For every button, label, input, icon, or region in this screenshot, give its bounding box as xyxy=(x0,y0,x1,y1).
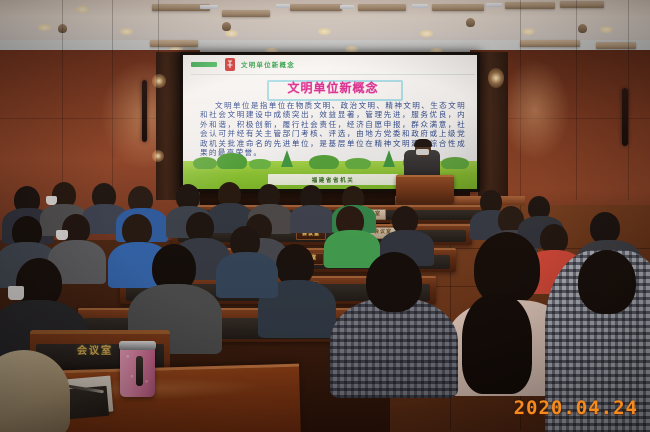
ceiling-vent xyxy=(520,40,580,47)
slide-header-rule xyxy=(191,74,475,75)
ceiling-spotlight xyxy=(466,18,475,27)
slide-bush xyxy=(309,155,339,169)
ceiling-vent xyxy=(358,4,406,11)
podium xyxy=(396,175,454,203)
cup-handle xyxy=(136,356,143,386)
ceiling-downlight xyxy=(76,6,89,13)
slide-footer-band-text: 福建省省机关 xyxy=(268,176,398,184)
ceiling-downlight xyxy=(522,28,535,35)
slide-header-text: 文明单位新概念 xyxy=(241,59,295,69)
audience-head xyxy=(462,294,532,394)
ceiling-downlight xyxy=(225,30,238,37)
ceiling-vent xyxy=(596,42,636,49)
slide-bush xyxy=(217,153,247,169)
slide-title: 文明单位新概念 xyxy=(267,81,399,96)
ceiling-light-strip xyxy=(276,4,290,8)
ceiling-downlight xyxy=(600,26,613,33)
slide-bush xyxy=(345,158,371,169)
ceiling-light-strip xyxy=(340,5,354,9)
ceiling-downlight xyxy=(318,28,331,35)
ceiling-vent xyxy=(432,4,484,11)
audience-shoulder xyxy=(216,252,278,298)
camera-datestamp: 2020.04.24 xyxy=(514,397,638,419)
header-green-bar xyxy=(191,62,217,67)
wall-speaker xyxy=(142,80,147,142)
audience-face-mask xyxy=(8,286,24,300)
wall-panel-seam xyxy=(62,0,63,200)
audience-head xyxy=(366,252,422,312)
slide-tree xyxy=(383,150,395,167)
ceiling-downlight xyxy=(420,30,433,37)
door-lamp xyxy=(488,68,504,88)
ceiling-light-strip xyxy=(486,3,502,7)
slide-bush xyxy=(249,159,271,169)
wall-speaker xyxy=(622,88,628,146)
conference-room-photo: 文明单位新概念 文明单位新概念 文明单位是指单位在物质文明、政治文明、精神文明、… xyxy=(0,0,650,432)
presenter-face-mask xyxy=(416,149,429,155)
audience-face-mask xyxy=(56,230,68,240)
cup-lid xyxy=(119,341,156,350)
audience-shoulder xyxy=(330,298,458,398)
ceiling-vent xyxy=(222,10,270,17)
slide-tree xyxy=(281,150,293,167)
red-seal-logo-icon xyxy=(223,57,237,72)
wall-light-glow xyxy=(500,60,570,160)
ceiling-light-strip xyxy=(200,5,218,9)
ceiling-light-strip xyxy=(412,4,428,8)
foreground-desk-plaque: 会议室 xyxy=(70,345,120,358)
presenter-hair xyxy=(414,139,432,147)
audience-head xyxy=(578,250,636,314)
slide-header: 文明单位新概念 xyxy=(183,55,477,75)
ceiling-downlight xyxy=(120,28,133,35)
wall-panel-seam xyxy=(576,0,577,200)
wall-panel-seam xyxy=(628,0,629,200)
ceiling-vent xyxy=(560,1,604,8)
ceiling-spotlight xyxy=(222,22,231,31)
slide-bush xyxy=(441,157,469,169)
door-lamp xyxy=(152,74,166,88)
ceiling-vent xyxy=(290,4,342,11)
door-lamp xyxy=(152,150,164,162)
ceiling-downlight xyxy=(38,24,51,31)
ceiling-vent xyxy=(505,2,555,9)
audience-shoulder xyxy=(290,205,334,233)
ceiling-spotlight xyxy=(578,24,587,33)
slide-bush xyxy=(193,157,217,169)
